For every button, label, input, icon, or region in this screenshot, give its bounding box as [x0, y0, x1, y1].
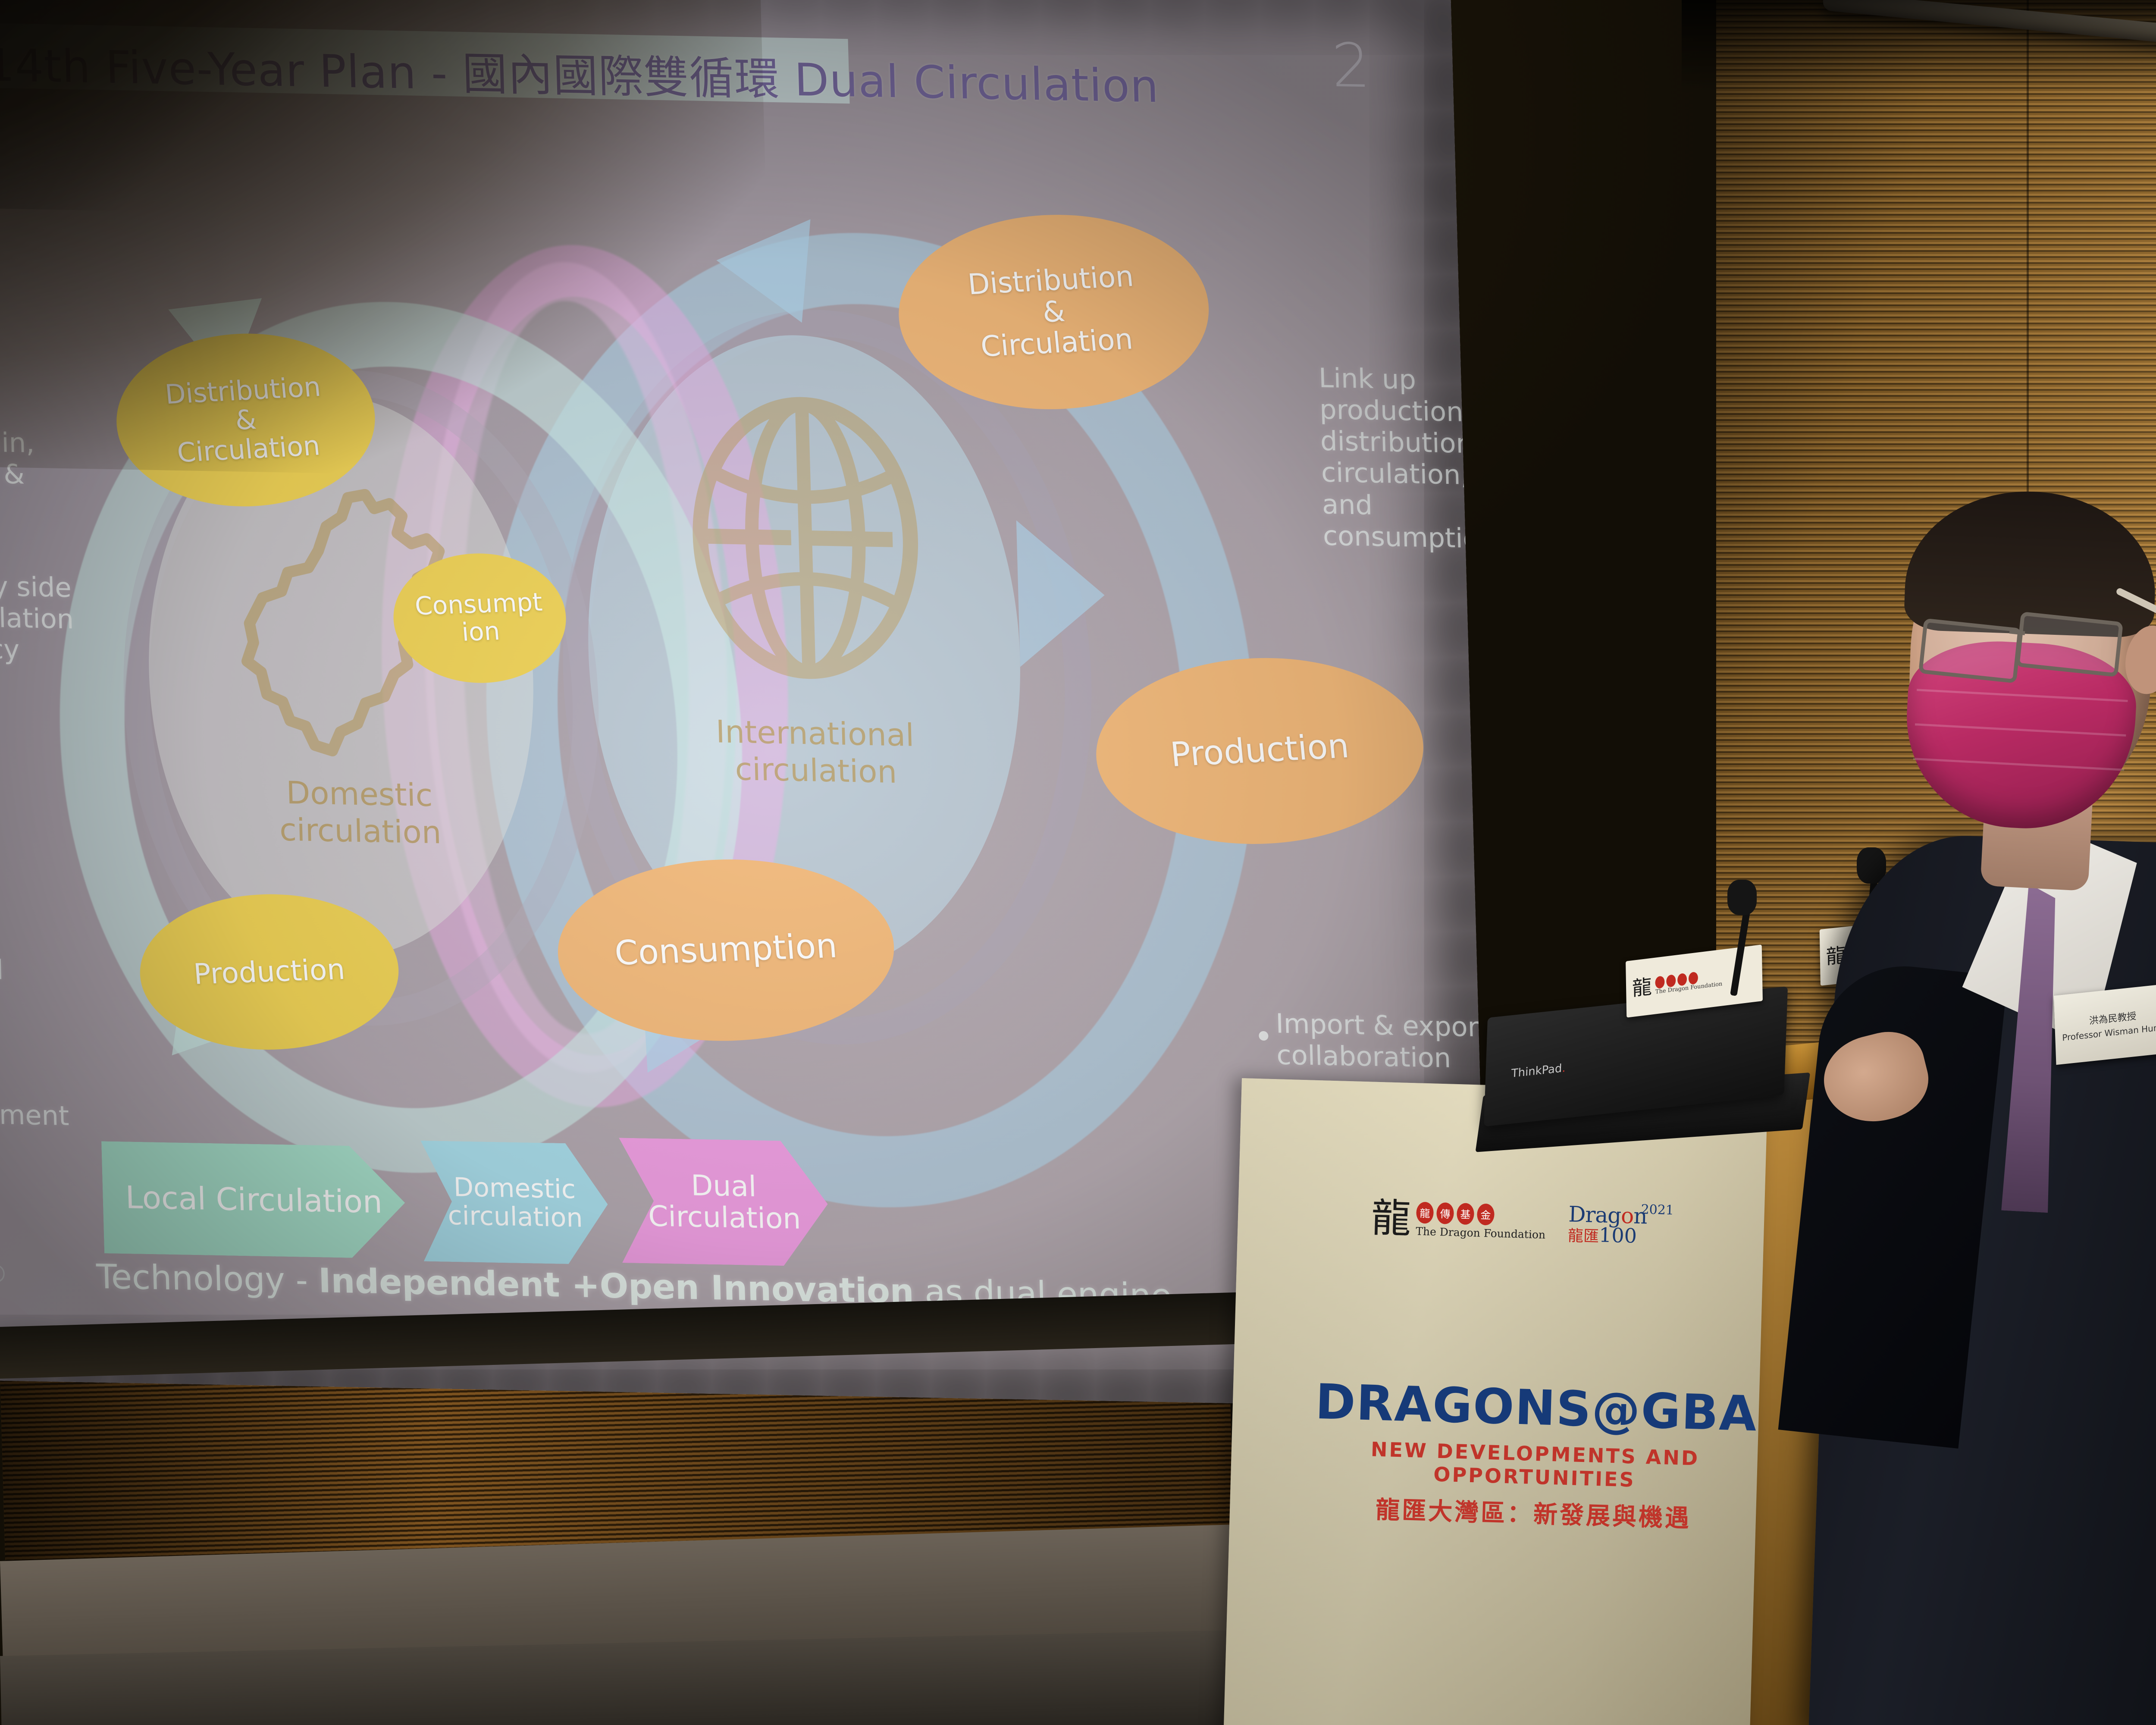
dragon100-logo: Dragon 龍匯100 2021 — [1567, 1201, 1647, 1248]
dragon-brush-icon: 龍 — [1632, 979, 1652, 997]
slide-note-left-3: ic Demand — [0, 951, 127, 988]
eyeglasses-left-lens — [1918, 618, 2022, 683]
bullet-dot-icon — [1259, 1031, 1269, 1041]
seal-icon — [1655, 975, 1664, 989]
slide-footer-icons: ○○○ — [0, 1257, 16, 1286]
screenshot-root: Domestic circulation International circu… — [0, 0, 2156, 1725]
flow-step-domestic-circulation: Domestic circulation — [420, 1141, 609, 1265]
dragon-foundation-name: The Dragon Foundation — [1416, 1225, 1546, 1241]
seal-icon-3: 基 — [1457, 1203, 1474, 1225]
podium-logo-row: 龍 龍 傳 基 金 The Dragon Foundation Dragon 龍… — [1370, 1179, 1692, 1266]
microphone-head-left — [1727, 880, 1757, 915]
dragon100-number: 100 — [1598, 1223, 1637, 1247]
mask-pleat — [1913, 758, 2125, 771]
international-cycle-label: International circulation — [681, 712, 950, 792]
thinkpad-logo: ThinkPad. — [1511, 1062, 1566, 1080]
podium-signage: DRAGONS@GBA NEW DEVELOPMENTS AND OPPORTU… — [1300, 1374, 1770, 1536]
slide-note-left-2: form supply side prove circulation hance… — [0, 568, 119, 699]
projector-falloff-2 — [0, 0, 421, 216]
seal-icon-2: 傳 — [1436, 1202, 1454, 1224]
dragon100-bottom: 龍匯100 — [1567, 1222, 1647, 1248]
dragon-foundation-seals: 龍 傳 基 金 — [1416, 1201, 1546, 1226]
speaker-name-cn: 洪為民教授 — [2089, 1008, 2137, 1027]
slide-number: 2 — [1331, 31, 1371, 102]
dragon-brush-icon: 龍 — [1371, 1202, 1411, 1235]
podium-event-subtitle: NEW DEVELOPMENTS AND OPPORTUNITIES — [1301, 1436, 1768, 1495]
flow-step-local-circulation: Local Circulation — [101, 1141, 407, 1259]
mask-pleat — [1915, 723, 2126, 737]
speaker-name-badge: 洪為民教授 Professor Wisman Hung — [2054, 984, 2156, 1065]
eyeglasses-right-lens — [2015, 612, 2123, 677]
seal-icon — [1689, 971, 1698, 985]
footer-plain: Technology - — [96, 1258, 319, 1300]
seal-icon — [1677, 972, 1687, 986]
domestic-cycle-label: Domestic circulation — [238, 773, 482, 852]
slide-note-left-4: urage mption sify investment — [0, 1033, 132, 1133]
ceiling-shadow — [1682, 0, 2156, 95]
seal-icon-1: 龍 — [1416, 1201, 1434, 1223]
dragon100-year: 2021 — [1641, 1202, 1674, 1218]
seal-icon — [1666, 974, 1676, 988]
slide-note-right-2: Import & export collaboration — [1275, 1008, 1489, 1076]
seal-icon-4: 金 — [1477, 1203, 1495, 1225]
dragon100-cn: 龍匯 — [1567, 1227, 1599, 1245]
mask-pleat — [1917, 689, 2128, 702]
dragon-foundation-logo: 龍 龍 傳 基 金 The Dragon Foundation — [1371, 1200, 1546, 1241]
thinkpad-logo-dot: . — [1562, 1062, 1566, 1075]
thinkpad-logo-text: ThinkPad — [1511, 1062, 1562, 1080]
arrowhead-icon — [1016, 520, 1106, 668]
slide-title-tail: Dual Circulation — [779, 53, 1159, 113]
